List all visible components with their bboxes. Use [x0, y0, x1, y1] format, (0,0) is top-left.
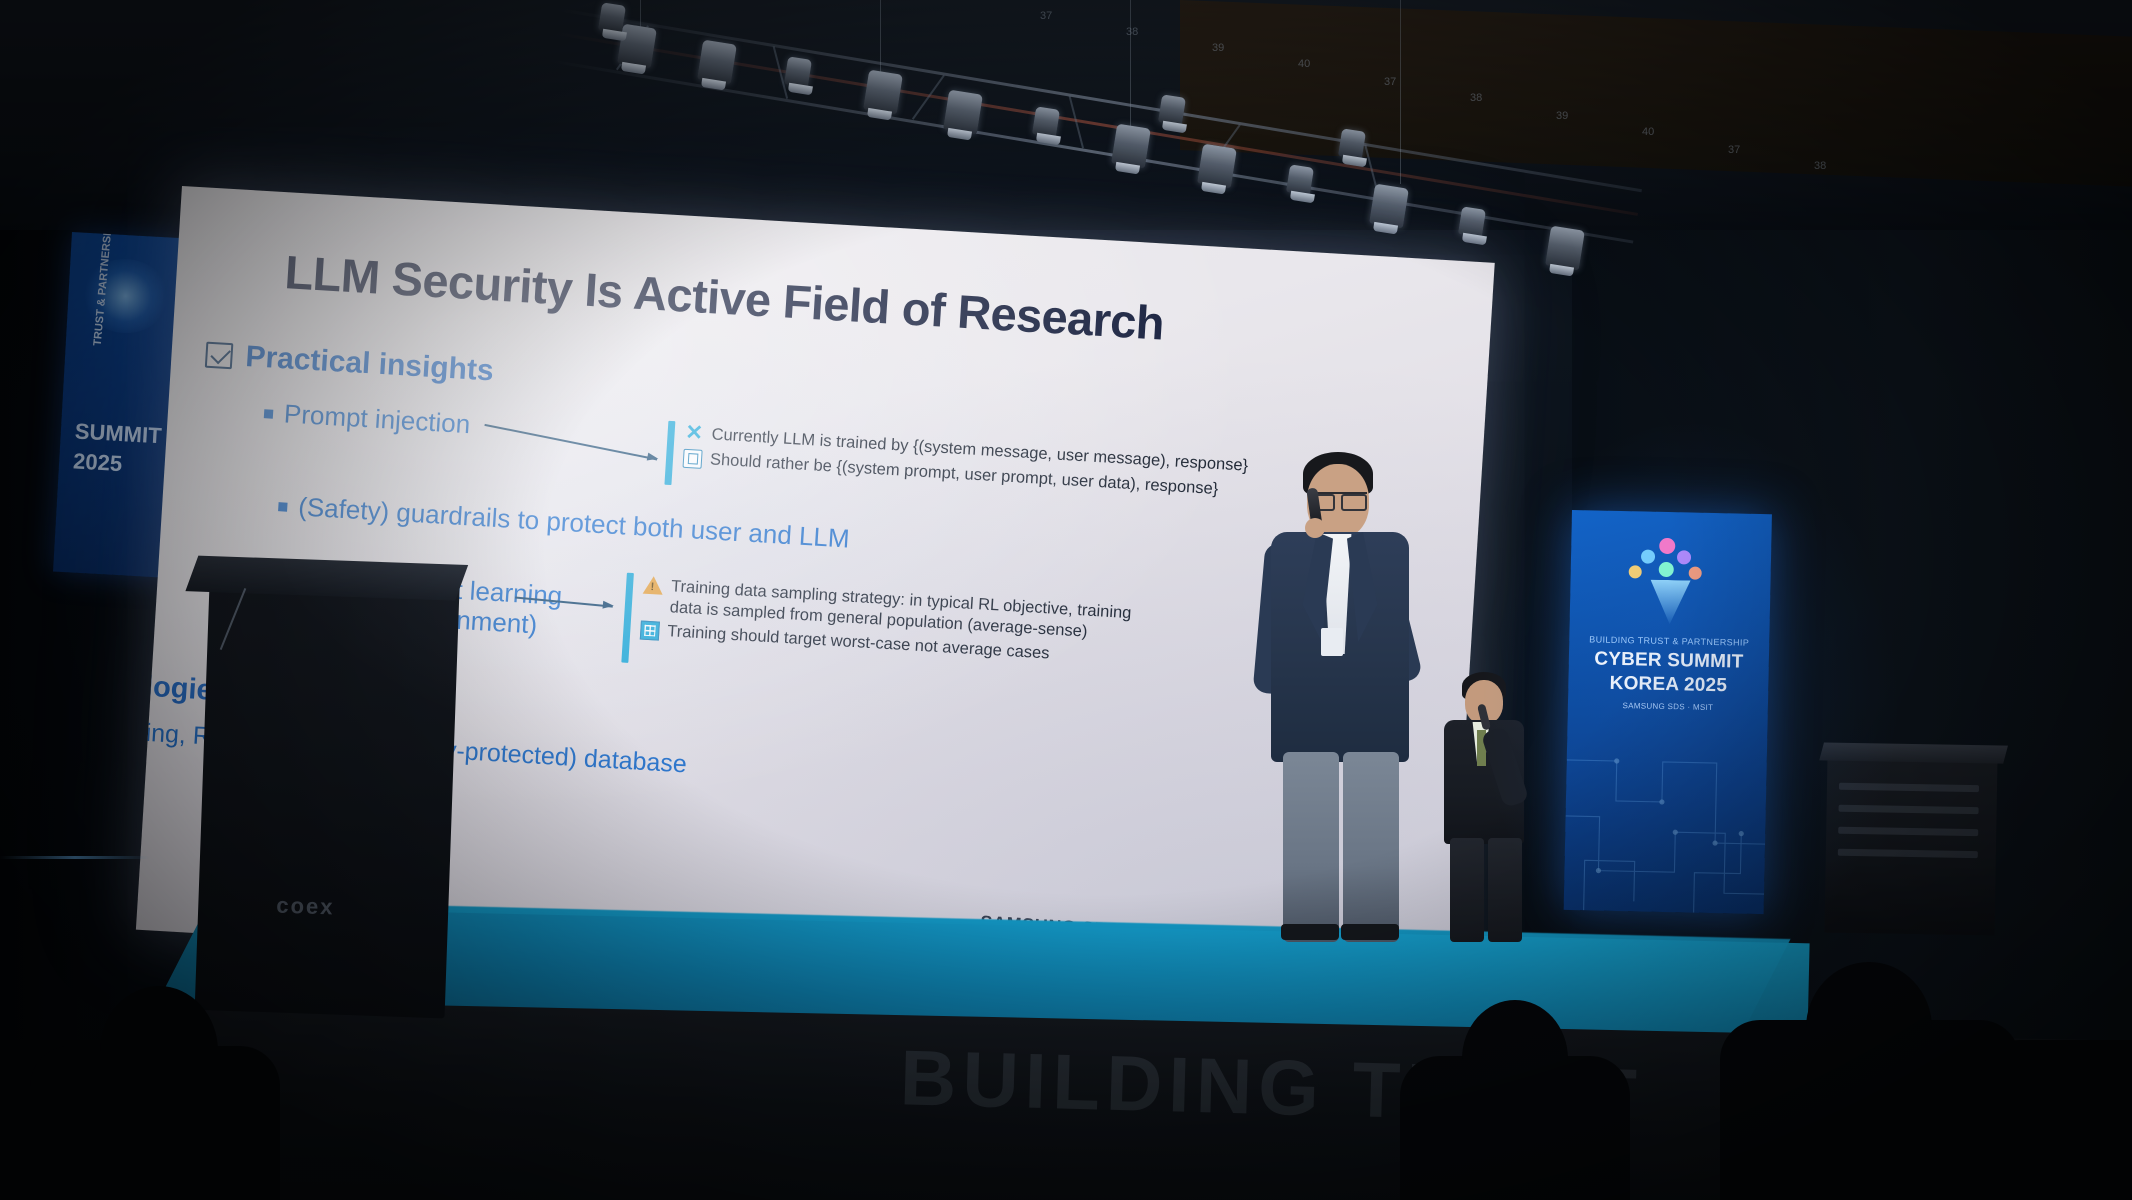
banner-circuit-pattern [1564, 720, 1768, 914]
square-bullet-icon [278, 502, 288, 512]
emblem-dot [1641, 549, 1655, 563]
grid-icon [640, 621, 660, 641]
speaker-leg-right [1343, 752, 1399, 942]
callout-accent-bar [664, 421, 675, 485]
speaker-leg-left [1450, 838, 1484, 942]
emblem-cone [1650, 580, 1691, 625]
stage-light [1458, 206, 1486, 237]
stage-light [1369, 184, 1409, 229]
rigging-wire [640, 0, 641, 28]
av-rack-slot [1839, 783, 1979, 792]
slide-callout-prompt-injection: ✕ Currently LLM is trained by {(system m… [664, 421, 1249, 521]
slide-section-heading: Practical insights [205, 338, 495, 389]
speaker-shoe [1341, 924, 1399, 940]
stage-light [598, 2, 626, 33]
emblem-dot [1629, 565, 1642, 578]
slide-title: LLM Security Is Active Field of Research [283, 244, 1166, 350]
callout-rows: ✕ Currently LLM is trained by {(system m… [683, 422, 1249, 501]
emblem-dot [1659, 538, 1675, 554]
rigging-wire [1400, 0, 1401, 184]
speaker-name-badge [1321, 628, 1343, 656]
stage-light [1545, 226, 1585, 271]
slide-bullet-label: Prompt injection [283, 398, 471, 439]
stage-light [1338, 128, 1366, 159]
audience-head [100, 986, 218, 1116]
av-rack-top [1819, 742, 2008, 763]
podium-logo: coex [276, 893, 335, 921]
speaker-shoe [1281, 924, 1339, 940]
banner-sponsor-logos: SAMSUNG SDS · MSIT [1568, 700, 1768, 713]
slide-section-label: Practical insights [244, 340, 494, 388]
emblem-dot [1659, 562, 1674, 577]
stage-light [784, 56, 812, 87]
truss-number: 39 [1556, 110, 1568, 122]
warning-triangle-icon [643, 576, 664, 595]
truss-number: 38 [1470, 92, 1482, 104]
stage-light [697, 40, 737, 85]
banner-title-line1: CYBER SUMMIT [1569, 648, 1769, 674]
stage-light [1111, 124, 1151, 169]
av-rack-slot [1838, 849, 1978, 858]
stage-light [863, 70, 903, 115]
rigging-wire [1130, 0, 1131, 126]
emblem-dot [1689, 566, 1702, 579]
rigging-wire [880, 0, 881, 72]
truss-number: 40 [1642, 126, 1654, 138]
podium: coex [195, 570, 460, 1018]
truss-number: 37 [1040, 10, 1052, 22]
speaker-secondary [1432, 672, 1536, 944]
checkbox-checked-icon [205, 342, 234, 370]
slide-bullet-prompt-injection: Prompt injection [263, 397, 471, 439]
truss-number: 38 [1126, 26, 1138, 38]
square-bullet-icon [264, 409, 274, 419]
banner-emblem [1610, 533, 1732, 631]
side-display-line-3: 2025 [72, 448, 122, 477]
speaker-hand [1305, 518, 1325, 538]
stray-light-streak [0, 856, 150, 859]
connector-arrow [485, 424, 658, 460]
audience-head [1462, 1000, 1568, 1118]
banner-title-line2: KOREA 2025 [1568, 672, 1768, 698]
stage-photo-scene: 37 38 39 40 37 38 39 40 37 38 TRUST & PA… [0, 0, 2132, 1200]
banner-tagline: BUILDING TRUST & PARTNERSHIP [1569, 634, 1769, 648]
stage-light [1032, 106, 1060, 137]
truss-number: 38 [1814, 160, 1826, 172]
slide-bullet-guardrails: (Safety) guardrails to protect both user… [277, 490, 850, 554]
stage-light [1158, 94, 1186, 125]
slide-callout-reinforcement-learning: Training data sampling strategy: in typi… [621, 573, 1141, 695]
audience-silhouette [1980, 1040, 2132, 1200]
document-icon [683, 448, 703, 468]
truss-number: 39 [1212, 42, 1224, 54]
speaker-leg-right [1488, 838, 1522, 942]
av-rack-slot [1839, 805, 1979, 814]
x-mark-icon: ✕ [684, 424, 704, 444]
event-banner: BUILDING TRUST & PARTNERSHIP CYBER SUMMI… [1564, 510, 1772, 914]
truss-number: 40 [1298, 58, 1310, 70]
speaker-primary [1255, 452, 1425, 932]
callout-rows: Training data sampling strategy: in typi… [640, 574, 1141, 670]
av-equipment-rack [1824, 753, 1997, 936]
stage-light [1286, 164, 1314, 195]
stage-light [1197, 144, 1237, 189]
audience-head [1806, 962, 1932, 1094]
av-rack-slot [1838, 827, 1978, 836]
callout-accent-bar [621, 573, 634, 663]
emblem-dot [1677, 550, 1691, 564]
slide-bullet-label: (Safety) guardrails to protect both user… [297, 491, 850, 553]
side-display-line-2: SUMMIT [74, 418, 162, 449]
speaker-leg-left [1283, 752, 1339, 942]
truss-number: 37 [1384, 76, 1396, 88]
stage-light [617, 24, 657, 69]
stage-light [943, 90, 983, 135]
truss-number: 37 [1728, 144, 1740, 156]
